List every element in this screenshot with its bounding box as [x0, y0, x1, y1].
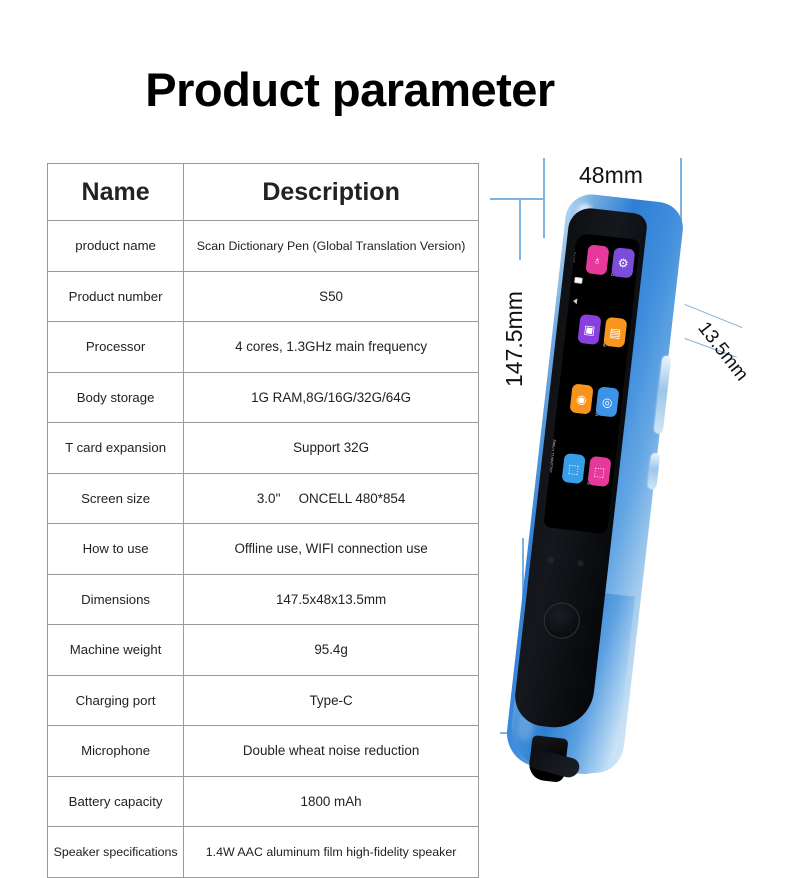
row-value: S50 — [184, 271, 479, 322]
product-figure: 48mm 13.5mm 147.5mm 14:41 2023/08/11 Fri… — [495, 140, 800, 780]
table-row: Processor 4 cores, 1.3GHz main frequency — [48, 322, 479, 373]
table-row: Product number S50 — [48, 271, 479, 322]
row-label: Body storage — [48, 372, 184, 423]
table-row: Microphone Double wheat noise reduction — [48, 726, 479, 777]
row-value: Support 32G — [184, 423, 479, 474]
row-label: Processor — [48, 322, 184, 373]
app-icon-settings[interactable]: ⚙ — [611, 247, 635, 278]
table-row: How to use Offline use, WIFI connection … — [48, 524, 479, 575]
width-dimension-label: 48mm — [579, 162, 643, 189]
row-label: Product number — [48, 271, 184, 322]
row-label: product name — [48, 221, 184, 272]
table-row: Battery capacity 1800 mAh — [48, 776, 479, 827]
row-value: Type-C — [184, 675, 479, 726]
product-parameter-table: Name Description product name Scan Dicti… — [47, 163, 479, 878]
status-date: 2023/08/11 Friday — [548, 439, 557, 473]
row-value: Scan Dictionary Pen (Global Translation … — [184, 221, 479, 272]
width-guide-drop — [519, 198, 521, 260]
row-value: Offline use, WIFI connection use — [184, 524, 479, 575]
row-value: 3.0''ONCELL 480*854 — [184, 473, 479, 524]
row-value: 95.4g — [184, 625, 479, 676]
table-row: T card expansion Support 32G — [48, 423, 479, 474]
page-title: Product parameter — [0, 62, 700, 117]
screen-size-panel: ONCELL 480*854 — [299, 491, 406, 506]
table-row: Body storage 1G RAM,8G/16G/32G/64G — [48, 372, 479, 423]
row-label: Screen size — [48, 473, 184, 524]
row-label: Battery capacity — [48, 776, 184, 827]
row-value: 1800 mAh — [184, 776, 479, 827]
book-icon: ▤ — [609, 326, 622, 339]
translate-icon: ⬚ — [593, 465, 606, 478]
status-time: 14:41 — [570, 252, 576, 263]
scan-dictionary-pen: 14:41 2023/08/11 Friday ♁ Dictionary ⚙ S… — [503, 192, 692, 777]
gear-icon: ⚙ — [617, 256, 629, 269]
app-icon-translate[interactable]: ⬚ — [587, 456, 611, 487]
app-icon-smart-speak[interactable]: ◎ — [595, 386, 619, 417]
column-header-description: Description — [184, 164, 479, 221]
dictionary-icon: ♁ — [592, 253, 602, 266]
app-icon-photo-translation[interactable]: ▣ — [577, 314, 601, 345]
app-icon-scan-translation[interactable]: ⬚ — [562, 453, 586, 484]
camera-icon: ▣ — [583, 323, 596, 336]
row-label: Charging port — [48, 675, 184, 726]
table-row: Charging port Type-C — [48, 675, 479, 726]
height-dimension-label: 147.5mm — [501, 291, 528, 387]
row-value: 147.5x48x13.5mm — [184, 574, 479, 625]
wifi-icon — [573, 298, 578, 304]
table-row: Speaker specifications 1.4W AAC aluminum… — [48, 827, 479, 878]
home-button[interactable] — [542, 601, 582, 641]
width-guide-tick — [490, 198, 544, 200]
screen-size-inches: 3.0'' — [257, 491, 281, 506]
sensor-hole — [578, 561, 582, 565]
row-value: 1.4W AAC aluminum film high-fidelity spe… — [184, 827, 479, 878]
table-row: Dimensions 147.5x48x13.5mm — [48, 574, 479, 625]
row-value: Double wheat noise reduction — [184, 726, 479, 777]
table-row: Machine weight 95.4g — [48, 625, 479, 676]
speaker-icon: ◎ — [601, 395, 613, 408]
row-label: Speaker specifications — [48, 827, 184, 878]
app-icon-dictionary-2[interactable]: ▤ — [603, 317, 627, 348]
row-label: Machine weight — [48, 625, 184, 676]
scan-icon: ⬚ — [567, 462, 580, 475]
app-icon-dictionary[interactable]: ♁ — [585, 244, 609, 275]
depth-dimension-label: 13.5mm — [693, 318, 753, 386]
row-label: T card expansion — [48, 423, 184, 474]
row-label: How to use — [48, 524, 184, 575]
app-icon-voice-translation[interactable]: ◉ — [569, 383, 593, 414]
table-header-row: Name Description — [48, 164, 479, 221]
row-value: 1G RAM,8G/16G/32G/64G — [184, 372, 479, 423]
row-label: Microphone — [48, 726, 184, 777]
table-row: Screen size 3.0''ONCELL 480*854 — [48, 473, 479, 524]
row-value: 4 cores, 1.3GHz main frequency — [184, 322, 479, 373]
row-label: Dimensions — [48, 574, 184, 625]
battery-icon — [574, 277, 583, 283]
app-label-settings: Settings — [636, 261, 640, 277]
column-header-name: Name — [48, 164, 184, 221]
table-row: product name Scan Dictionary Pen (Global… — [48, 221, 479, 272]
microphone-hole — [548, 558, 552, 562]
voice-icon: ◉ — [576, 392, 588, 405]
